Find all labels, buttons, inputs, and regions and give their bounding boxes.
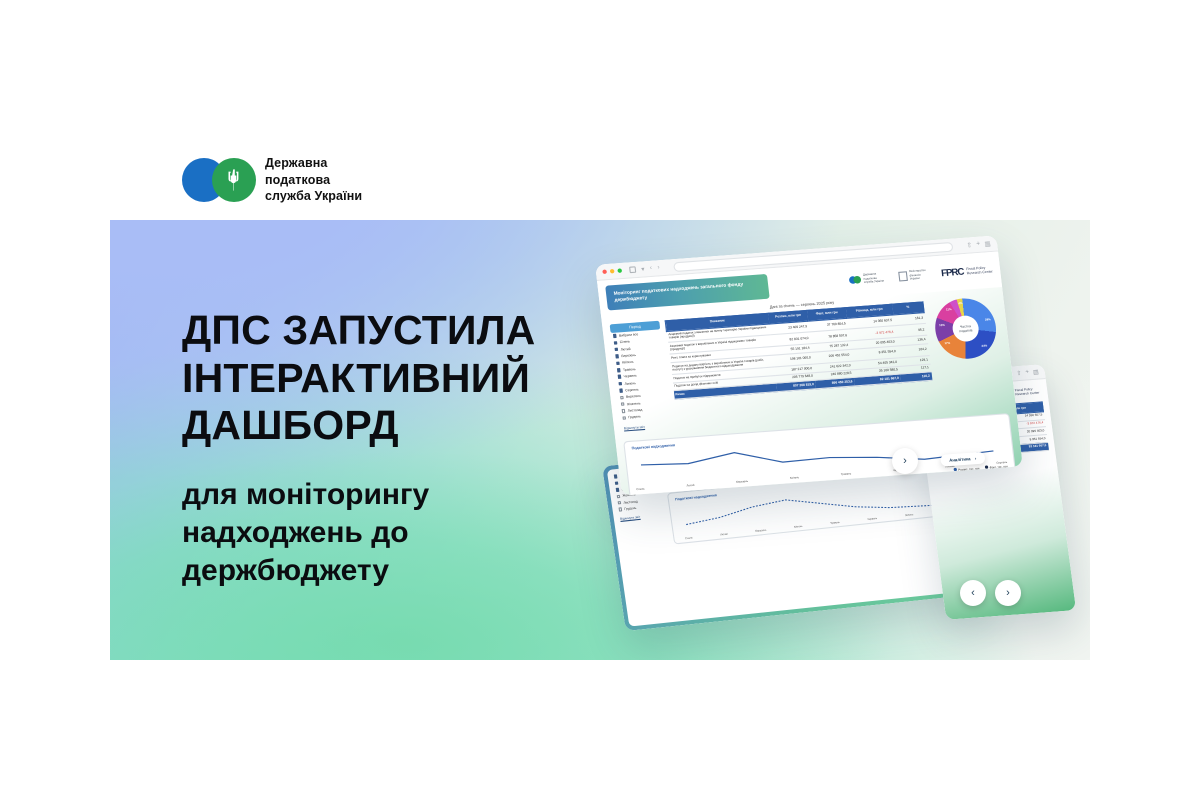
filter-label: Лютий: [620, 346, 630, 351]
hero-banner: ДПС ЗАПУСТИЛА ІНТЕРАКТИВНИЙ ДАШБОРД для …: [110, 220, 1090, 660]
analytics-button-label: Аналітика: [949, 456, 971, 463]
filter-label: Грудень: [628, 415, 641, 420]
checkbox-icon[interactable]: [617, 494, 621, 498]
filter-label: Травень: [623, 367, 636, 372]
chevron-right-icon[interactable]: ›: [995, 580, 1021, 606]
main-table-wrap: Показник Розпис, млн грн Факт, млн грн Р…: [665, 301, 936, 426]
checkbox-icon[interactable]: [618, 382, 622, 386]
tax-share-donut[interactable]: Частка податків 28% 24% 17% 13% 11% 4%: [932, 296, 999, 361]
filter-label: Березень: [621, 353, 636, 358]
fprc-logo: FPRC Fiscal Policy Research Center: [941, 264, 994, 278]
checkbox-icon[interactable]: [616, 488, 620, 492]
checkbox-icon[interactable]: [622, 409, 626, 413]
donut-slice-label: 24%: [981, 344, 987, 348]
sidebar-toggle-icon[interactable]: [629, 266, 636, 273]
carousel-controls[interactable]: ‹ ›: [960, 580, 1021, 606]
dashboard-logos: Державна податкова служба України Мініст…: [775, 264, 993, 292]
checkbox-icon[interactable]: [618, 375, 622, 379]
filter-label: Квітень: [622, 360, 634, 365]
checkbox-icon[interactable]: [615, 348, 619, 352]
axis-tick: Лютий: [686, 483, 694, 487]
checkbox-icon[interactable]: [614, 475, 618, 479]
axis-tick: Липень: [905, 513, 914, 517]
filter-label: Серпень: [625, 387, 639, 392]
donut-slice-label: 4%: [958, 302, 962, 306]
filter-panel[interactable]: Період Вибрати все Січень Лютий Березень…: [610, 321, 672, 431]
logo-marks: [182, 158, 256, 202]
checkbox-icon[interactable]: [620, 395, 624, 399]
fprc-logo-text: Fiscal Policy Research Center: [1014, 386, 1039, 396]
filter-label: Червень: [623, 373, 637, 378]
close-icon[interactable]: [602, 269, 607, 274]
filter-label: Липень: [624, 380, 636, 385]
filter-label: Листопад: [627, 408, 642, 413]
axis-tick: Травень: [830, 521, 840, 525]
forward-icon[interactable]: ›: [657, 265, 660, 272]
cell: 807 268 819,0: [776, 381, 816, 392]
chevron-right-icon[interactable]: ›: [892, 448, 918, 474]
logo-green-circle-icon: [212, 158, 256, 202]
chevron-left-icon[interactable]: ‹: [960, 580, 986, 606]
filter-label: Січень: [620, 340, 631, 345]
donut-slice-label: 17%: [944, 341, 950, 345]
checkbox-icon[interactable]: [614, 341, 618, 345]
minimize-icon[interactable]: [610, 269, 615, 274]
dps-mini-text: Державна податкова служба України: [863, 272, 884, 285]
fprc-logo-text: Fiscal Policy Research Center: [966, 265, 993, 276]
checkbox-icon[interactable]: [615, 481, 619, 485]
mof-mini-logo: Міністерство фінансів України: [898, 269, 927, 283]
cell: 110,2: [900, 372, 932, 383]
page-title: ДПС ЗАПУСТИЛА ІНТЕРАКТИВНИЙ ДАШБОРД: [182, 307, 535, 450]
donut-slice-label: 11%: [946, 308, 952, 312]
tabs-icon[interactable]: ▥: [1033, 368, 1040, 375]
trident-icon: [224, 168, 244, 192]
plus-icon[interactable]: +: [976, 241, 981, 248]
maximize-icon[interactable]: [617, 268, 622, 273]
share-icon[interactable]: ⇧: [1016, 369, 1022, 376]
mof-emblem-icon: [898, 271, 908, 281]
bottom-reset-link[interactable]: Відкинути звіт: [618, 512, 666, 521]
dps-logo-text: Державна податкова служба України: [265, 155, 362, 205]
checkbox-icon[interactable]: [615, 354, 619, 358]
dps-logo: Державна податкова служба України: [182, 155, 362, 205]
checkbox-icon[interactable]: [613, 334, 617, 338]
axis-tick: Березень: [755, 528, 766, 532]
filter-label: Вересень: [626, 394, 641, 399]
main-window-inner: ▾ ‹ › ⇧ + ▥ Моніторинг податкових надход…: [595, 235, 1023, 495]
axis-tick: Квітень: [790, 476, 800, 480]
donut-center-label: Частка податків: [951, 314, 980, 342]
axis-tick: Квітень: [794, 525, 803, 529]
axis-tick: Січень: [685, 536, 693, 540]
axis-tick: Червень: [867, 517, 877, 521]
axis-tick: Лютий: [720, 533, 728, 537]
checkbox-icon[interactable]: [621, 402, 625, 406]
page-subtitle: для моніторингу надходжень до держбюджет…: [182, 476, 429, 590]
checkbox-icon[interactable]: [619, 389, 623, 393]
right-chrome-icons[interactable]: ⇧ + ▥: [1016, 368, 1039, 377]
cell: 896 450 253,6: [815, 378, 855, 389]
checkbox-icon[interactable]: [617, 368, 621, 372]
mof-mini-text: Міністерство фінансів України: [909, 269, 927, 282]
chevron-down-icon[interactable]: ▾: [641, 265, 645, 273]
donut-slice-label: 13%: [939, 323, 945, 327]
filter-label: Жовтень: [627, 401, 641, 406]
carousel-next-single[interactable]: ›: [892, 448, 918, 474]
checkbox-icon[interactable]: [618, 501, 622, 505]
checkbox-icon[interactable]: [622, 416, 626, 420]
filter-label: Грудень: [624, 506, 636, 511]
reset-report-link[interactable]: Відкинути звіт: [621, 422, 671, 430]
page-root: Державна податкова служба України ДПС ЗА…: [0, 0, 1200, 800]
dps-mini-logo: Державна податкова служба України: [849, 272, 884, 286]
checkbox-icon[interactable]: [619, 508, 623, 512]
back-icon[interactable]: ‹: [650, 265, 653, 272]
donut-slice-label: 28%: [985, 318, 991, 322]
main-chrome-icons[interactable]: ⇧ + ▥: [966, 240, 991, 249]
dps-mini-circles-icon: [849, 276, 862, 284]
plus-icon[interactable]: +: [1025, 369, 1029, 375]
donut-chart-wrap: Частка податків 28% 24% 17% 13% 11% 4%: [929, 296, 1008, 407]
checkbox-icon[interactable]: [616, 361, 620, 365]
tabs-icon[interactable]: ▥: [984, 240, 991, 248]
dashboard-window-main[interactable]: ▾ ‹ › ⇧ + ▥ Моніторинг податкових надход…: [595, 235, 1023, 495]
share-icon[interactable]: ⇧: [966, 241, 972, 249]
axis-tick: Січень: [636, 487, 645, 491]
chevron-right-icon: ›: [975, 455, 977, 460]
fprc-mark-icon: FPRC: [941, 266, 964, 278]
